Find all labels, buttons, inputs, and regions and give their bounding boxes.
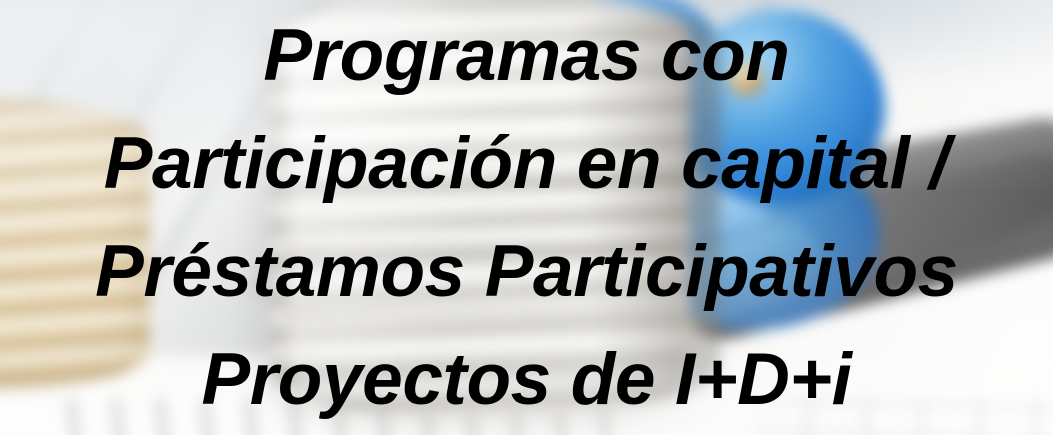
title-banner: Programas con Participación en capital /…	[0, 0, 1053, 435]
title-line-2: Participación en capital /	[0, 110, 1053, 218]
title-line-3: Préstamos Participativos	[0, 218, 1053, 326]
title-line-4: Proyectos de I+D+i	[0, 326, 1053, 434]
title-line-1: Programas con	[0, 2, 1053, 110]
page-title: Programas con Participación en capital /…	[0, 0, 1053, 435]
